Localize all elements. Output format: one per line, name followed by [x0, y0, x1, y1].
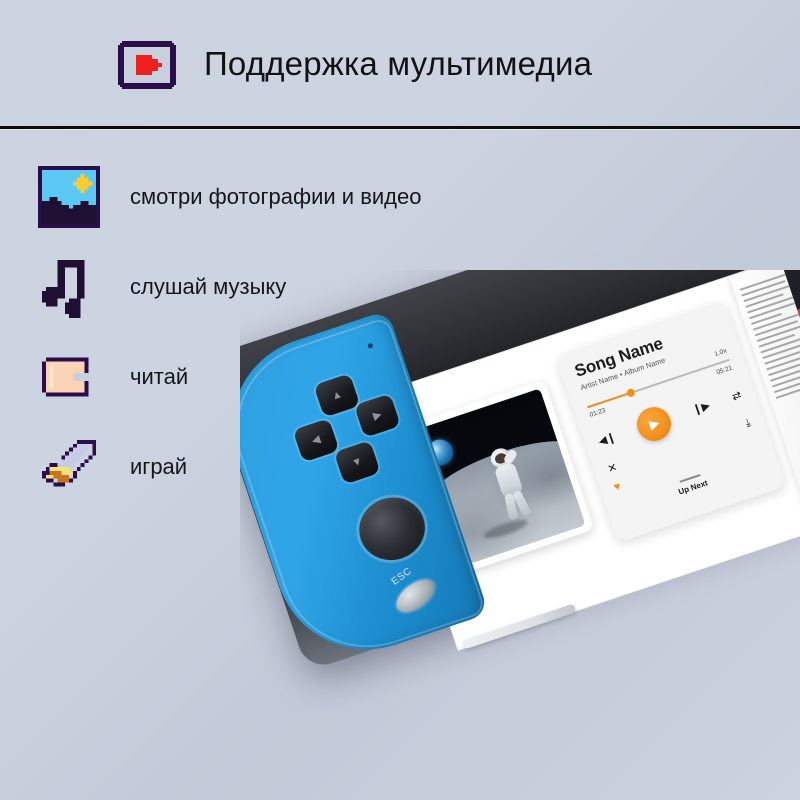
playback-speed-value[interactable]: 1.0x: [714, 347, 728, 358]
previous-track-icon[interactable]: ◀❙: [597, 432, 617, 448]
pixel-sword-icon: [36, 434, 102, 500]
repeat-icon[interactable]: ⇄: [731, 390, 743, 403]
list-item-label: читай: [130, 364, 188, 390]
duration-time: 05:21: [716, 365, 734, 377]
play-button[interactable]: ▶: [633, 402, 676, 445]
promo-slide: Поддержка мультимедиа: [0, 0, 800, 800]
shuffle-icon[interactable]: ✕: [607, 462, 619, 475]
media-frame-icon: [118, 41, 176, 89]
pixel-music-note-icon: [36, 254, 102, 320]
download-icon[interactable]: ⤓: [744, 418, 752, 430]
dpad-left-icon: ◀: [310, 434, 322, 447]
elapsed-time: 01:23: [589, 407, 607, 419]
dpad-down-icon: ▼: [350, 455, 364, 469]
page-title: Поддержка мультимедиа: [204, 45, 592, 83]
list-item-label: играй: [130, 454, 187, 480]
pixel-photo-icon: [36, 164, 102, 230]
next-track-icon[interactable]: ❙▶: [691, 400, 711, 416]
favorite-icon[interactable]: ♥: [612, 480, 622, 493]
list-item-label: смотри фотографии и видео: [130, 184, 421, 210]
handheld-game-console: Song Name Artist Name • Album Name 1.0x …: [240, 270, 800, 800]
pixel-scroll-icon: [36, 344, 102, 410]
header: Поддержка мультимедиа: [0, 0, 800, 127]
header-divider: [0, 126, 800, 129]
dpad-right-button[interactable]: ▶: [354, 393, 401, 437]
dpad-right-icon: ▶: [372, 409, 384, 422]
dpad-up-icon: ▲: [330, 388, 344, 402]
dpad-down-button[interactable]: ▼: [334, 440, 381, 484]
product-photo: Song Name Artist Name • Album Name 1.0x …: [240, 270, 800, 800]
list-item: смотри фотографии и видео: [36, 152, 556, 242]
